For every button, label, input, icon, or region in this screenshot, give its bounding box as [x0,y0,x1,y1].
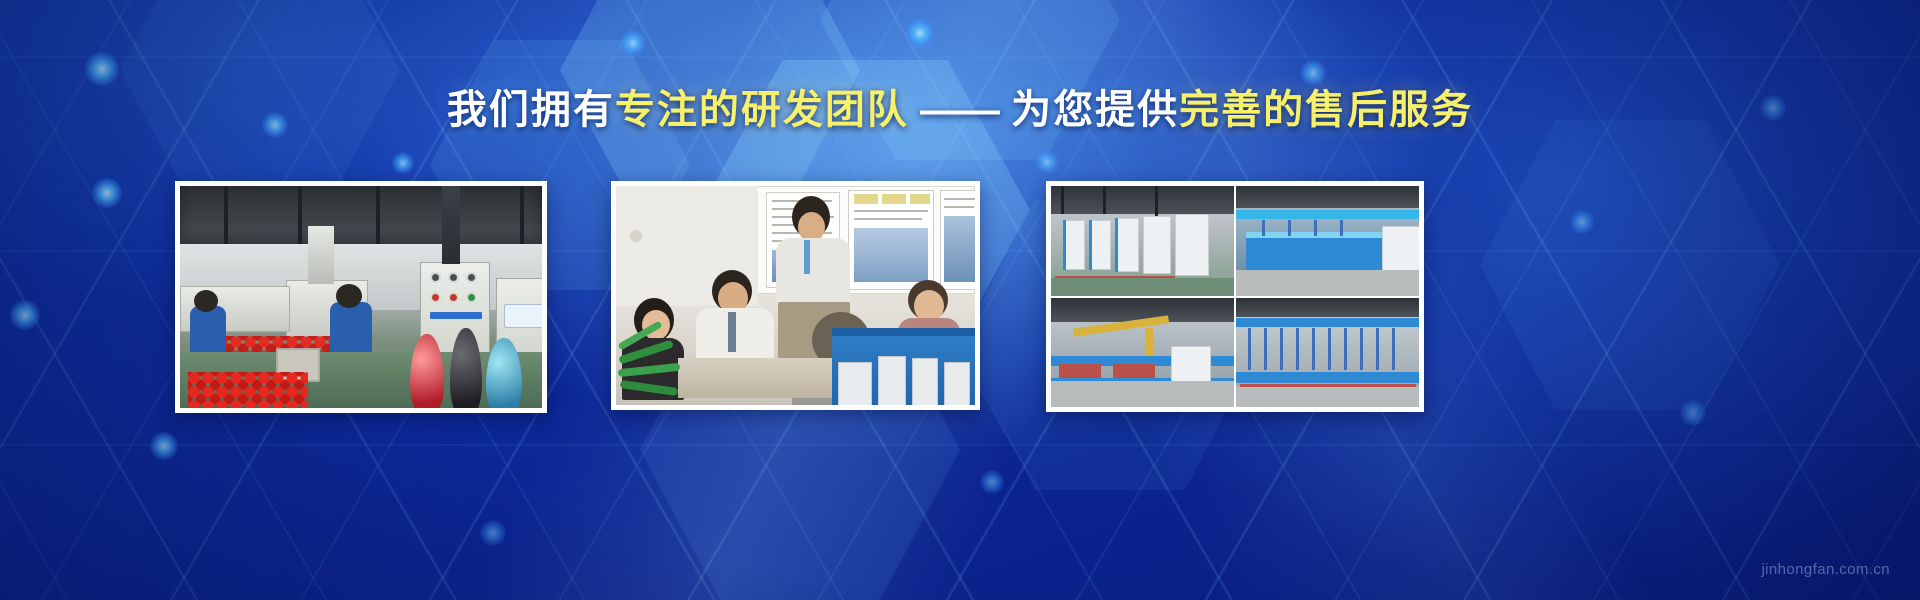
grid-cell-warehouse [1051,186,1234,296]
banner-stage: 我们拥有专注的研发团队 —— 为您提供完善的售后服务 [0,0,1920,600]
photo-frame-equipment-grid[interactable] [1046,181,1424,412]
grid-cell-hanging-line [1236,298,1419,408]
headline-part-4: 为您提供 [1011,88,1179,132]
photo-frame-production-line[interactable] [175,181,547,413]
photo-production-line [180,186,542,408]
site-watermark: jinhongfan.com.cn [1761,561,1890,578]
photo-frame-team-meeting[interactable] [611,181,980,410]
photo-row [0,181,1920,413]
grid-cell-conveyor-tunnel [1236,186,1419,296]
headline-part-1: 我们拥有 [447,88,615,132]
grid-cell-workshop-crane [1051,298,1234,408]
headline-part-2: 专注的研发团队 [615,88,909,132]
headline-part-5: 完善的售后服务 [1179,88,1473,132]
headline-dash: —— [909,88,1011,132]
photo-team-meeting [616,186,975,405]
page-title: 我们拥有专注的研发团队 —— 为您提供完善的售后服务 [0,86,1920,134]
photo-equipment-grid [1051,186,1419,407]
